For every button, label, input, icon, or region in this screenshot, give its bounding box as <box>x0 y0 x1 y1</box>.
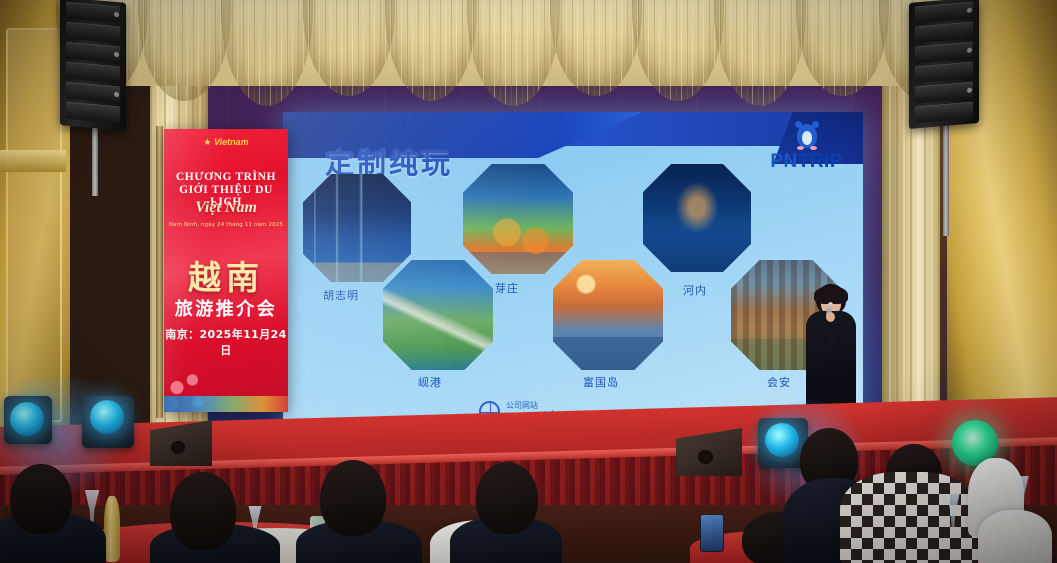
speaker-led-indicator <box>114 52 119 57</box>
speaker-led-indicator <box>114 12 119 17</box>
curtain-swag <box>467 0 559 106</box>
line-array-module <box>66 82 120 104</box>
destination-label-4: 富国岛 <box>583 374 619 390</box>
wall-molding-left <box>6 28 62 422</box>
banner-stand-pole <box>156 126 163 418</box>
destination-label-1: 芽庄 <box>495 280 519 296</box>
cornice-left <box>0 150 66 172</box>
line-array-module <box>66 42 120 64</box>
brand-wordmark: PNTRIP <box>770 151 843 173</box>
moving-head-lens-left-2 <box>90 400 124 434</box>
speaker-rigging-pole-right <box>943 116 949 236</box>
line-array-module <box>915 101 973 123</box>
curtain-swag <box>385 0 477 101</box>
curtain-swag <box>138 0 230 101</box>
led-presentation-screen: 定制纯玩 PNTRIP 胡志明 芽庄 河内 岘港 富国岛 会安 公 <box>283 112 863 432</box>
attendee-head-1 <box>170 472 236 550</box>
speaker-led-indicator <box>114 92 119 97</box>
line-array-module <box>66 2 120 24</box>
penguin-icon <box>794 120 820 150</box>
brand-prefix: PN <box>770 151 797 172</box>
conference-stage-photo: 定制纯玩 PNTRIP 胡志明 芽庄 河内 岘港 富国岛 会安 公 <box>0 0 1057 563</box>
destination-label-3: 岘港 <box>418 374 442 390</box>
line-array-module <box>915 21 973 43</box>
line-array-speaker-left <box>60 0 126 131</box>
line-array-module <box>915 41 973 63</box>
destination-label-5: 会安 <box>767 374 791 390</box>
white-chair-cover-2 <box>978 510 1052 563</box>
moving-head-lens-right <box>765 423 799 457</box>
destination-photo-3 <box>383 260 493 370</box>
line-array-module <box>915 81 973 103</box>
curtain-swag <box>550 0 642 96</box>
attendee-head-2 <box>320 460 386 536</box>
destination-photo-2 <box>643 164 751 272</box>
roll-up-banner: ★ Vietnam CHƯƠNG TRÌNH GIỚI THIỆU DU LỊC… <box>164 129 288 412</box>
line-array-module <box>66 62 120 84</box>
speaker-rigging-pole-left <box>92 118 98 196</box>
destination-label-0: 胡志明 <box>323 287 359 303</box>
curtain-swag <box>221 0 313 106</box>
banner-highlight <box>164 129 226 412</box>
curtain-swag <box>303 0 395 96</box>
line-array-speaker-right <box>909 0 979 129</box>
brand-suffix: TRIP <box>798 151 843 172</box>
line-array-module <box>915 1 973 23</box>
line-array-module <box>66 22 120 44</box>
attendee-checkerboard-jacket <box>840 472 978 563</box>
smartphone-screen <box>700 514 724 552</box>
moving-head-lens-left <box>10 402 44 436</box>
attendee-head-3 <box>476 462 538 534</box>
line-array-module <box>915 61 973 83</box>
attendee-head-0 <box>10 464 72 534</box>
curtain-swag <box>796 0 888 96</box>
destination-photo-0 <box>303 174 411 282</box>
destination-photo-4 <box>553 260 663 370</box>
curtain-swag <box>714 0 806 106</box>
pn-trip-logo: PNTRIP <box>770 120 843 173</box>
destination-photo-1 <box>463 164 573 274</box>
line-array-module <box>66 102 120 124</box>
curtain-swag <box>632 0 724 101</box>
destination-label-2: 河内 <box>683 282 707 298</box>
champagne-bottle <box>104 496 120 562</box>
curtain-swags <box>60 0 965 110</box>
